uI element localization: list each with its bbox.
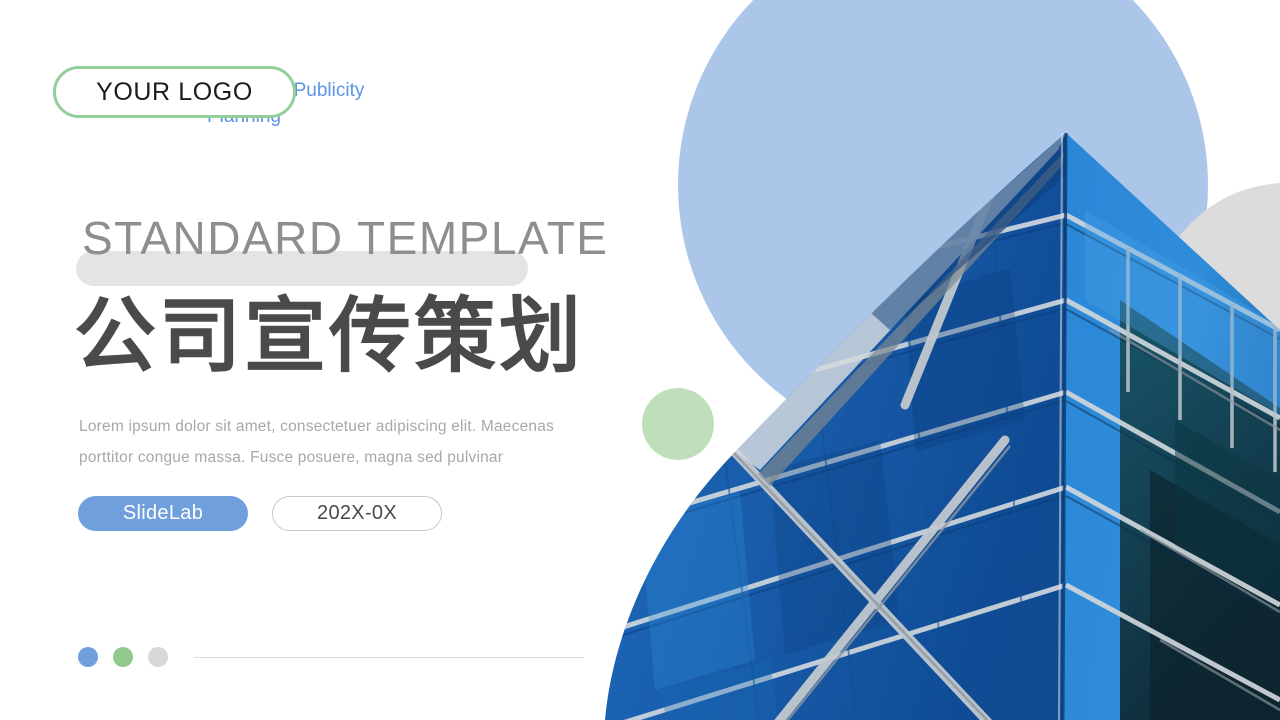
body-paragraph: Lorem ipsum dolor sit amet, consectetuer… xyxy=(79,411,599,473)
pagination-indicator xyxy=(78,647,584,667)
date-button[interactable]: 202X-0X xyxy=(272,496,442,531)
decor-green-circle xyxy=(642,388,714,460)
slidelab-button[interactable]: SlideLab xyxy=(78,496,248,531)
headline-chinese: 公司宣传策划 xyxy=(74,291,584,383)
pagination-dot-2[interactable] xyxy=(113,647,133,667)
headline-english: STANDARD TEMPLATE xyxy=(82,211,608,265)
presentation-slide: Company Publicity Planning YOUR LOGO STA… xyxy=(0,0,1280,720)
pagination-rule xyxy=(194,657,584,658)
decor-large-blue-circle xyxy=(678,0,1208,450)
logo-text[interactable]: YOUR LOGO xyxy=(53,66,296,118)
pagination-dot-1[interactable] xyxy=(78,647,98,667)
pagination-dot-3[interactable] xyxy=(148,647,168,667)
button-row: SlideLab 202X-0X xyxy=(78,496,442,531)
